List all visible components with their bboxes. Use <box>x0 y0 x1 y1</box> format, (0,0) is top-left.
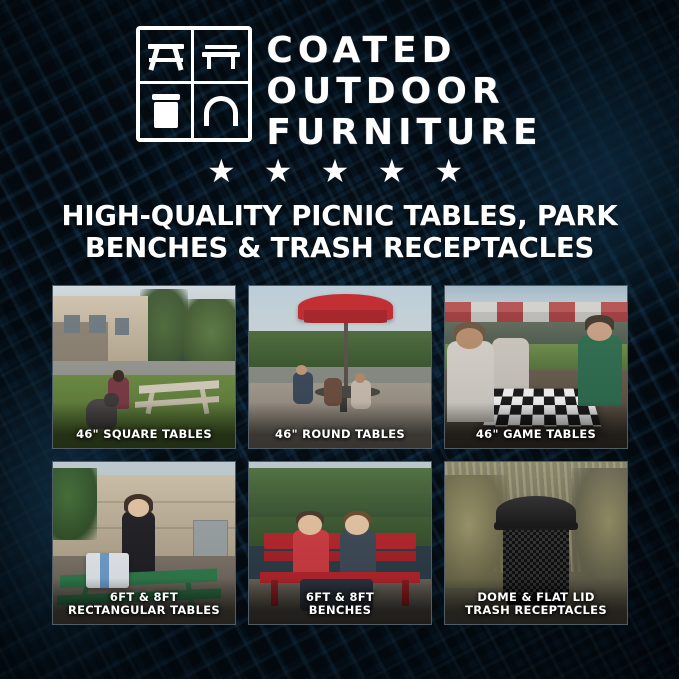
tile-benches[interactable]: 6FT & 8FT BENCHES <box>248 461 432 625</box>
caption-line-2: RECTANGULAR TABLES <box>68 603 220 617</box>
tile-caption-rectangular-tables: 6FT & 8FT RECTANGULAR TABLES <box>53 586 235 624</box>
tile-rectangular-tables[interactable]: 6FT & 8FT RECTANGULAR TABLES <box>52 461 236 625</box>
trash-receptacle-icon <box>140 84 194 138</box>
tile-game-tables[interactable]: 46" GAME TABLES <box>444 285 628 449</box>
tile-round-tables[interactable]: 46" ROUND TABLES <box>248 285 432 449</box>
product-category-grid: 46" SQUARE TABLES <box>52 285 628 625</box>
headline-line-2: BENCHES & TRASH RECEPTACLES <box>28 232 651 264</box>
tile-caption-square-tables: 46" SQUARE TABLES <box>53 423 235 448</box>
dome-lid-icon <box>194 84 248 138</box>
headline-line-1: HIGH-QUALITY PICNIC TABLES, PARK <box>62 200 618 232</box>
tile-caption-trash-receptacles: DOME & FLAT LID TRASH RECEPTACLES <box>445 586 627 624</box>
bench-icon <box>194 30 248 84</box>
logo-icon-grid <box>136 26 252 142</box>
tile-caption-benches: 6FT & 8FT BENCHES <box>249 586 431 624</box>
caption-line-1: 46" SQUARE TABLES <box>76 427 212 441</box>
tile-trash-receptacles[interactable]: DOME & FLAT LID TRASH RECEPTACLES <box>444 461 628 625</box>
caption-line-1: 46" GAME TABLES <box>476 427 596 441</box>
brand-wordmark: COATED OUTDOOR FURNITURE <box>266 24 542 152</box>
tile-caption-round-tables: 46" ROUND TABLES <box>249 423 431 448</box>
page-title: HIGH-QUALITY PICNIC TABLES, PARK BENCHES… <box>0 200 679 264</box>
brand-word-furniture: FURNITURE <box>266 114 542 152</box>
caption-line-2: BENCHES <box>309 603 372 617</box>
brand-logo: COATED OUTDOOR FURNITURE <box>0 24 679 152</box>
picnic-table-icon <box>140 30 194 84</box>
caption-line-2: TRASH RECEPTACLES <box>465 603 607 617</box>
brand-word-coated: COATED <box>266 32 542 70</box>
tile-caption-game-tables: 46" GAME TABLES <box>445 423 627 448</box>
tile-square-tables[interactable]: 46" SQUARE TABLES <box>52 285 236 449</box>
brand-word-outdoor: OUTDOOR <box>266 73 542 111</box>
caption-line-1: 46" ROUND TABLES <box>275 427 405 441</box>
promo-poster: COATED OUTDOOR FURNITURE ★ ★ ★ ★ ★ HIGH-… <box>0 0 679 679</box>
star-rating: ★ ★ ★ ★ ★ <box>0 155 679 187</box>
